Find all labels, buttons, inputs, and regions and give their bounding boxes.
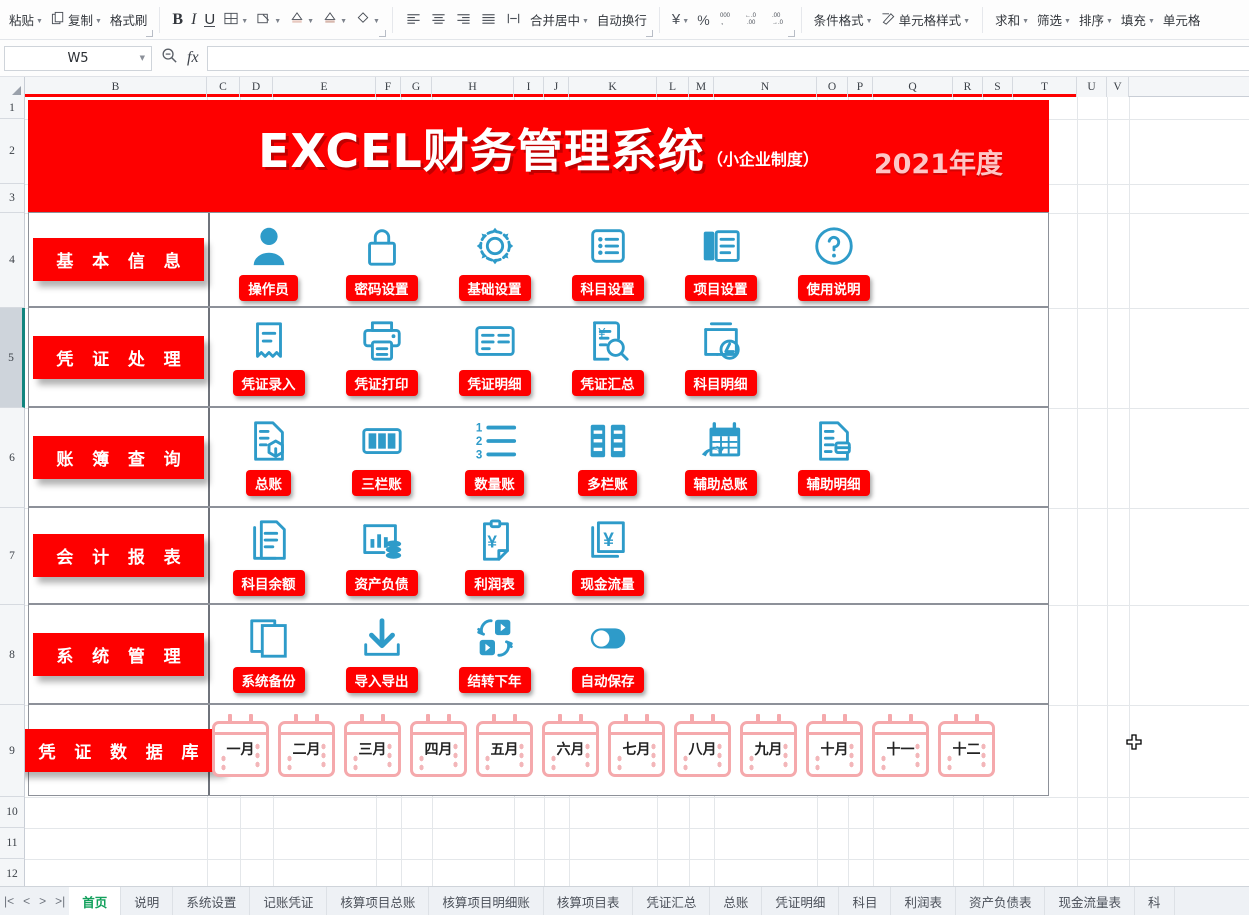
comma-style-icon: 000, (718, 10, 735, 29)
row-header-4[interactable]: 4 (0, 213, 25, 308)
row-header-1[interactable]: 1 (0, 97, 25, 119)
doc-detail-icon (811, 414, 857, 468)
formula-input[interactable] (207, 46, 1249, 71)
ribbon-group-editing: 求和▼ 筛选▼ 排序▼ 填充▼ 单元格 (986, 0, 1209, 40)
font-color-button[interactable]: ▼ (318, 8, 351, 32)
menu-item-结转下年[interactable]: 结转下年 (438, 605, 551, 693)
underline-button[interactable]: U (200, 10, 219, 30)
font-dialog-launcher[interactable] (379, 30, 386, 37)
menu-item-label: 系统备份 (233, 667, 305, 693)
align-left-icon (405, 11, 422, 29)
menu-item-多栏账[interactable]: 多栏账 (551, 408, 664, 496)
column-header-G[interactable]: G (401, 77, 432, 97)
column-header-V[interactable]: V (1107, 77, 1129, 97)
column-header-U[interactable]: U (1077, 77, 1107, 97)
underline-icon: U (204, 13, 215, 27)
title-banner: EXCEL财务管理系统 （小企业制度） 2021年度 (28, 100, 1049, 212)
calendar-tick-icon (888, 714, 892, 723)
calendar-dots (980, 742, 987, 770)
gridline-h (25, 859, 1249, 860)
paste-label: 粘贴 (9, 10, 34, 29)
menu-item-三栏账[interactable]: 三栏账 (325, 408, 438, 496)
menu-item-label: 基础设置 (459, 275, 531, 301)
clipboard-dialog-launcher[interactable] (146, 30, 153, 37)
sort-button[interactable]: 排序▼ (1075, 7, 1117, 32)
month-label: 二月 (293, 739, 321, 759)
divider (392, 7, 393, 33)
sheet-tab-利润表[interactable]: 利润表 (891, 887, 956, 915)
menu-item-资产负债[interactable]: 资产负债 (325, 508, 438, 596)
voucher-db-panel: 凭 证 数 据 库一月二月三月四月五月六月七月八月九月十月十一十二 (28, 704, 1049, 796)
first-sheet-icon[interactable]: |< (4, 894, 14, 908)
calendar-tick-icon (843, 714, 847, 723)
menu-item-科目明细[interactable]: 科目明细 (664, 308, 777, 396)
column-header-B[interactable]: B (25, 77, 207, 97)
calendar-dots (650, 742, 657, 770)
ribbon-group-font: B I U ▼ ▼ ▼ ▼ ▼ (163, 0, 389, 40)
divider (982, 7, 983, 33)
cell-style-icon (881, 11, 897, 29)
row-headers: 123456789101112 (0, 97, 25, 886)
banner-year: 2021年度 (874, 142, 1003, 181)
sheet-tab-资产负债表[interactable]: 资产负债表 (956, 887, 1046, 915)
chevron-down-icon[interactable]: ▼ (140, 54, 145, 62)
chevron-down-icon[interactable]: ▼ (1148, 18, 1155, 25)
svg-text:.00: .00 (772, 13, 781, 19)
wrap-text-label: 自动换行 (597, 10, 647, 29)
month-label: 五月 (491, 739, 519, 759)
column-header-T[interactable]: T (1013, 77, 1077, 97)
calendar-dots (254, 742, 261, 770)
toggle-on-icon (585, 611, 631, 665)
section-title-1[interactable]: 凭 证 处 理 (33, 336, 203, 379)
calendar-dots (782, 742, 789, 770)
column-header-L[interactable]: L (657, 77, 689, 97)
filter-button[interactable]: 筛选▼ (1033, 7, 1075, 32)
month-button-五月[interactable]: 五月 (476, 721, 533, 777)
divider (801, 7, 802, 33)
id-card-icon (472, 314, 518, 368)
chevron-down-icon[interactable]: ▼ (241, 18, 248, 25)
sheet-tab-总账[interactable]: 总账 (710, 887, 762, 915)
cells-label: 单元格 (1163, 10, 1201, 29)
justify-icon (480, 11, 497, 29)
gridline-v (1107, 97, 1108, 886)
svg-text:.00: .00 (747, 20, 756, 26)
ribbon-group-clipboard: 粘贴▼ 复制▼ 格式刷 (0, 0, 156, 40)
chevron-down-icon[interactable]: ▼ (582, 18, 589, 25)
row-header-5[interactable]: 5 (0, 308, 25, 408)
chevron-down-icon[interactable]: ▼ (373, 18, 380, 25)
sheet-tab-首页[interactable]: 首页 (69, 887, 121, 915)
chevron-down-icon[interactable]: ▼ (307, 18, 314, 25)
column-header-S[interactable]: S (983, 77, 1013, 97)
menu-item-利润表[interactable]: ¥利润表 (438, 508, 551, 596)
month-button-一月[interactable]: 一月 (212, 721, 269, 777)
document-list-icon (698, 219, 744, 273)
fx-label: fx (187, 49, 199, 67)
percent-icon: % (697, 12, 709, 28)
section-label-cell-1: 凭 证 处 理 (29, 308, 210, 406)
fill-color-button[interactable]: ▼ (285, 8, 318, 32)
section-label-cell-0: 基 本 信 息 (29, 213, 210, 306)
sheet-tab-核算项目明细账[interactable]: 核算项目明细账 (429, 887, 544, 915)
section-panel-2: 账 簿 查 询总账三栏账123数量账多栏账辅助总账辅助明细 (28, 407, 1049, 507)
three-column-icon (359, 414, 405, 468)
sheet-tab-凭证明细[interactable]: 凭证明细 (762, 887, 839, 915)
calendar-dots (452, 742, 459, 770)
multi-column-icon (585, 414, 631, 468)
chevron-down-icon[interactable]: ▼ (340, 18, 347, 25)
menu-item-label: 结转下年 (459, 667, 531, 693)
menu-item-label: 利润表 (465, 570, 524, 596)
month-label: 八月 (689, 739, 717, 759)
currency-button[interactable]: ¥▼ (668, 8, 693, 31)
month-button-四月[interactable]: 四月 (410, 721, 467, 777)
column-header-K[interactable]: K (569, 77, 657, 97)
month-button-八月[interactable]: 八月 (674, 721, 731, 777)
chevron-down-icon[interactable]: ▼ (1106, 18, 1113, 25)
column-header-C[interactable]: C (207, 77, 240, 97)
calendar-tick-icon (909, 714, 913, 723)
column-header-I[interactable]: I (514, 77, 544, 97)
menu-item-凭证录入[interactable]: 凭证录入 (212, 308, 325, 396)
column-header-N[interactable]: N (714, 77, 817, 97)
section-panel-3: 会 计 报 表科目余额资产负债¥利润表¥现金流量 (28, 507, 1049, 604)
numbered-list-icon: 123 (472, 414, 518, 468)
sheet-tab-科目[interactable]: 科目 (839, 887, 891, 915)
last-sheet-icon[interactable]: >| (55, 894, 65, 908)
menu-item-密码设置[interactable]: 密码设置 (325, 213, 438, 301)
copy-pages-icon (246, 611, 292, 665)
menu-item-自动保存[interactable]: 自动保存 (551, 605, 664, 693)
currency-icon: ¥ (672, 11, 680, 28)
section-title-4[interactable]: 系 统 管 理 (33, 633, 203, 676)
chart-coins-icon (359, 514, 405, 568)
divider (159, 7, 160, 33)
cell-merge-icon (256, 11, 272, 29)
column-header-P[interactable]: P (848, 77, 873, 97)
sheet-nav-buttons: |< < > >| (0, 887, 69, 915)
column-header-D[interactable]: D (240, 77, 273, 97)
chevron-down-icon[interactable]: ▼ (1022, 18, 1029, 25)
menu-item-label: 辅助明细 (798, 470, 870, 496)
menu-item-辅助明细[interactable]: 辅助明细 (777, 408, 890, 496)
calendar-tick-icon (690, 714, 694, 723)
formula-bar: W5 ▼ fx (0, 40, 1249, 77)
format-painter-label: 格式刷 (110, 10, 148, 29)
number-dialog-launcher[interactable] (788, 30, 795, 37)
list-icon (585, 219, 631, 273)
chevron-down-icon[interactable]: ▼ (36, 18, 43, 25)
align-right-button[interactable] (451, 8, 476, 32)
printer-icon (359, 314, 405, 368)
calendar-dots (716, 742, 723, 770)
svg-text:¥: ¥ (487, 532, 497, 552)
fill-button[interactable]: 填充▼ (1117, 7, 1159, 32)
month-button-十一[interactable]: 十一 (872, 721, 929, 777)
menu-item-导入导出[interactable]: 导入导出 (325, 605, 438, 693)
menu-item-label: 辅助总账 (685, 470, 757, 496)
chevron-down-icon[interactable]: ▼ (1064, 18, 1071, 25)
bold-button[interactable]: B (168, 8, 187, 32)
ribbon-toolbar: 粘贴▼ 复制▼ 格式刷 B I U (0, 0, 1249, 40)
wrap-text-button[interactable]: 自动换行 (593, 7, 651, 32)
sheet-tab-记账凭证[interactable]: 记账凭证 (250, 887, 327, 915)
gear-icon (472, 219, 518, 273)
section-items-3: 科目余额资产负债¥利润表¥现金流量 (212, 508, 1048, 603)
calendar-tick-icon (294, 714, 298, 723)
menu-item-label: 科目余额 (233, 570, 305, 596)
calendar-dots (518, 742, 525, 770)
menu-item-label: 资产负债 (346, 570, 418, 596)
align-left-button[interactable] (401, 8, 426, 32)
row-header-11[interactable]: 11 (0, 828, 25, 859)
menu-item-辅助总账[interactable]: 辅助总账 (664, 408, 777, 496)
calendar-tick-icon (360, 714, 364, 723)
align-right-icon (455, 11, 472, 29)
name-box-value: W5 (67, 51, 88, 66)
gridline-v (1077, 97, 1078, 886)
italic-button[interactable]: I (187, 8, 200, 32)
calendar-dots (320, 742, 327, 770)
menu-item-label: 多栏账 (578, 470, 637, 496)
menu-item-label: 凭证打印 (346, 370, 418, 396)
menu-item-label: 三栏账 (352, 470, 411, 496)
month-label: 三月 (359, 739, 387, 759)
menu-item-label: 导入导出 (346, 667, 418, 693)
alignment-dialog-launcher[interactable] (646, 30, 653, 37)
row-header-10[interactable]: 10 (0, 797, 25, 828)
menu-item-凭证明细[interactable]: 凭证明细 (438, 308, 551, 396)
menu-item-label: 凭证汇总 (572, 370, 644, 396)
comma-style-button[interactable]: 000, (714, 7, 739, 32)
calendar-tick-icon (645, 714, 649, 723)
gridline-h (25, 797, 1249, 798)
gridline-v (1129, 97, 1130, 886)
month-label: 九月 (755, 739, 783, 759)
decrease-decimal-button[interactable]: ←.0.00 (739, 7, 766, 32)
divider (659, 7, 660, 33)
increase-decimal-button[interactable]: .00→.0 (766, 7, 793, 32)
menu-item-科目余额[interactable]: 科目余额 (212, 508, 325, 596)
section-title-2[interactable]: 账 簿 查 询 (33, 436, 203, 479)
copy-button[interactable]: 复制▼ (47, 7, 106, 32)
month-button-二月[interactable]: 二月 (278, 721, 335, 777)
row-header-8[interactable]: 8 (0, 605, 25, 705)
svg-text:¥: ¥ (603, 530, 614, 551)
calendar-dots (386, 742, 393, 770)
menu-item-label: 使用说明 (798, 275, 870, 301)
calendar-tick-icon (777, 714, 781, 723)
carryover-icon (472, 611, 518, 665)
month-buttons: 一月二月三月四月五月六月七月八月九月十月十一十二 (212, 721, 1004, 777)
month-button-三月[interactable]: 三月 (344, 721, 401, 777)
month-label: 六月 (557, 739, 585, 759)
sheet-tab-说明[interactable]: 说明 (121, 887, 173, 915)
cell-merge-button[interactable]: ▼ (252, 8, 285, 32)
menu-item-科目设置[interactable]: 科目设置 (551, 213, 664, 301)
align-center-icon (430, 11, 447, 29)
column-header-M[interactable]: M (689, 77, 714, 97)
filter-label: 筛选 (1037, 10, 1062, 29)
calendar-tick-icon (228, 714, 232, 723)
page-title: EXCEL财务管理系统 (258, 128, 705, 174)
chevron-down-icon[interactable]: ▼ (274, 18, 281, 25)
borders-button[interactable]: ▼ (219, 8, 252, 32)
indent-icon (505, 11, 522, 29)
increase-decimal-icon: .00→.0 (770, 10, 789, 29)
month-label: 十二 (953, 739, 981, 759)
svg-text:1: 1 (475, 422, 482, 434)
menu-item-使用说明[interactable]: 使用说明 (777, 213, 890, 301)
section-panel-4: 系 统 管 理系统备份导入导出结转下年自动保存 (28, 604, 1049, 704)
voucher-db-label-cell: 凭 证 数 据 库 (29, 705, 210, 795)
column-header-J[interactable]: J (544, 77, 569, 97)
menu-item-label: 凭证录入 (233, 370, 305, 396)
voucher-db-title[interactable]: 凭 证 数 据 库 (25, 729, 221, 772)
calendar-dots (848, 742, 855, 770)
month-button-十二[interactable]: 十二 (938, 721, 995, 777)
name-box[interactable]: W5 ▼ (4, 46, 152, 71)
zoom-out-icon[interactable] (161, 47, 178, 69)
calendar-tick-icon (447, 714, 451, 723)
month-label: 十月 (821, 739, 849, 759)
sheet-tab-科[interactable]: 科 (1135, 887, 1175, 915)
month-label: 十一 (887, 739, 915, 759)
month-button-七月[interactable]: 七月 (608, 721, 665, 777)
sheet-tab-核算项目总账[interactable]: 核算项目总账 (327, 887, 429, 915)
calendar-tick-icon (381, 714, 385, 723)
menu-item-数量账[interactable]: 123数量账 (438, 408, 551, 496)
chevron-down-icon[interactable]: ▼ (95, 18, 102, 25)
question-circle-icon (811, 219, 857, 273)
calendar-tick-icon (711, 714, 715, 723)
menu-item-label: 数量账 (465, 470, 524, 496)
month-button-十月[interactable]: 十月 (806, 721, 863, 777)
column-header-F[interactable]: F (376, 77, 401, 97)
column-headers: BCDEFGHIJKLMNOPQRSTUV (0, 77, 1249, 97)
calendar-tick-icon (822, 714, 826, 723)
spreadsheet-app: 粘贴▼ 复制▼ 格式刷 B I U (0, 0, 1249, 915)
menu-item-总账[interactable]: 总账 (212, 408, 325, 496)
row-header-9[interactable]: 9 (0, 705, 25, 797)
conditional-format-button[interactable]: 条件格式▼ (810, 7, 877, 32)
yen-pages-icon: ¥ (585, 514, 631, 568)
menu-item-label: 项目设置 (685, 275, 757, 301)
cell-style-label: 单元格样式 (899, 10, 962, 29)
chevron-down-icon[interactable]: ▼ (866, 18, 873, 25)
svg-text:→.0: →.0 (772, 20, 784, 26)
column-header-R[interactable]: R (953, 77, 983, 97)
select-all-button[interactable] (0, 77, 25, 97)
sheet-tab-现金流量表[interactable]: 现金流量表 (1045, 887, 1135, 915)
calendar-tick-icon (249, 714, 253, 723)
prev-sheet-icon[interactable]: < (23, 894, 30, 908)
section-panel-0: 基 本 信 息操作员密码设置基础设置科目设置项目设置使用说明 (28, 212, 1049, 307)
menu-item-label: 密码设置 (346, 275, 418, 301)
menu-item-凭证汇总[interactable]: ¥凭证汇总 (551, 308, 664, 396)
menu-item-操作员[interactable]: 操作员 (212, 213, 325, 301)
month-button-六月[interactable]: 六月 (542, 721, 599, 777)
fill-color-icon (289, 11, 305, 29)
indent-button[interactable] (501, 8, 526, 32)
section-title-3[interactable]: 会 计 报 表 (33, 534, 203, 577)
paste-button[interactable]: 粘贴▼ (5, 7, 47, 32)
cells-button[interactable]: 单元格 (1159, 7, 1205, 32)
chevron-down-icon[interactable]: ▼ (963, 18, 970, 25)
column-header-O[interactable]: O (817, 77, 848, 97)
justify-button[interactable] (476, 8, 501, 32)
sheet-tab-核算项目表[interactable]: 核算项目表 (544, 887, 634, 915)
menu-item-凭证打印[interactable]: 凭证打印 (325, 308, 438, 396)
chevron-down-icon[interactable]: ▼ (682, 18, 689, 25)
svg-text:,: , (721, 17, 723, 26)
section-items-4: 系统备份导入导出结转下年自动保存 (212, 605, 1048, 703)
sheet-tab-系统设置[interactable]: 系统设置 (173, 887, 250, 915)
merge-center-button[interactable]: 合并居中▼ (526, 7, 593, 32)
month-button-九月[interactable]: 九月 (740, 721, 797, 777)
svg-text:2: 2 (475, 436, 481, 448)
section-items-0: 操作员密码设置基础设置科目设置项目设置使用说明 (212, 213, 1048, 306)
conditional-format-label: 条件格式 (814, 10, 864, 29)
italic-icon: I (191, 11, 196, 29)
section-label-cell-2: 账 簿 查 询 (29, 408, 210, 506)
menu-item-现金流量[interactable]: ¥现金流量 (551, 508, 664, 596)
calendar-tick-icon (315, 714, 319, 723)
copy-label: 复制 (68, 10, 93, 29)
menu-item-项目设置[interactable]: 项目设置 (664, 213, 777, 301)
receipt-icon (246, 314, 292, 368)
next-sheet-icon[interactable]: > (39, 894, 46, 908)
row-header-2[interactable]: 2 (0, 119, 25, 184)
autosum-button[interactable]: 求和▼ (991, 7, 1033, 32)
percent-button[interactable]: % (693, 9, 713, 31)
align-center-button[interactable] (426, 8, 451, 32)
row-header-3[interactable]: 3 (0, 184, 25, 213)
menu-item-label: 科目明细 (685, 370, 757, 396)
sheet-tab-凭证汇总[interactable]: 凭证汇总 (633, 887, 710, 915)
clear-format-button[interactable]: ▼ (351, 8, 384, 32)
calendar-tick-icon (624, 714, 628, 723)
column-header-H[interactable]: H (432, 77, 514, 97)
month-label: 一月 (227, 739, 255, 759)
section-items-1: 凭证录入凭证打印凭证明细¥凭证汇总科目明细 (212, 308, 1048, 406)
clear-format-icon (355, 11, 371, 29)
worksheet-canvas[interactable]: EXCEL财务管理系统 （小企业制度） 2021年度 基 本 信 息操作员密码设… (25, 97, 1249, 886)
section-title-0[interactable]: 基 本 信 息 (33, 238, 203, 281)
svg-text:3: 3 (475, 449, 481, 461)
cell-style-button[interactable]: 单元格样式▼ (877, 7, 974, 32)
row-header-6[interactable]: 6 (0, 408, 25, 508)
column-header-Q[interactable]: Q (873, 77, 953, 97)
svg-text:←.0: ←.0 (745, 13, 757, 19)
calendar-tick-icon (579, 714, 583, 723)
banner-subtitle: （小企业制度） (707, 146, 819, 174)
ribbon-group-number: ¥▼ % 000, ←.0.00 .00→.0 (663, 0, 798, 40)
column-header-E[interactable]: E (273, 77, 376, 97)
calendar-tick-icon (492, 714, 496, 723)
menu-item-label: 现金流量 (572, 570, 644, 596)
section-items-2: 总账三栏账123数量账多栏账辅助总账辅助明细 (212, 408, 1048, 506)
menu-item-系统备份[interactable]: 系统备份 (212, 605, 325, 693)
row-header-7[interactable]: 7 (0, 508, 25, 605)
sort-label: 排序 (1079, 10, 1104, 29)
calendar-tick-icon (975, 714, 979, 723)
menu-item-基础设置[interactable]: 基础设置 (438, 213, 551, 301)
month-label: 七月 (623, 739, 651, 759)
format-painter-button[interactable]: 格式刷 (106, 7, 152, 32)
